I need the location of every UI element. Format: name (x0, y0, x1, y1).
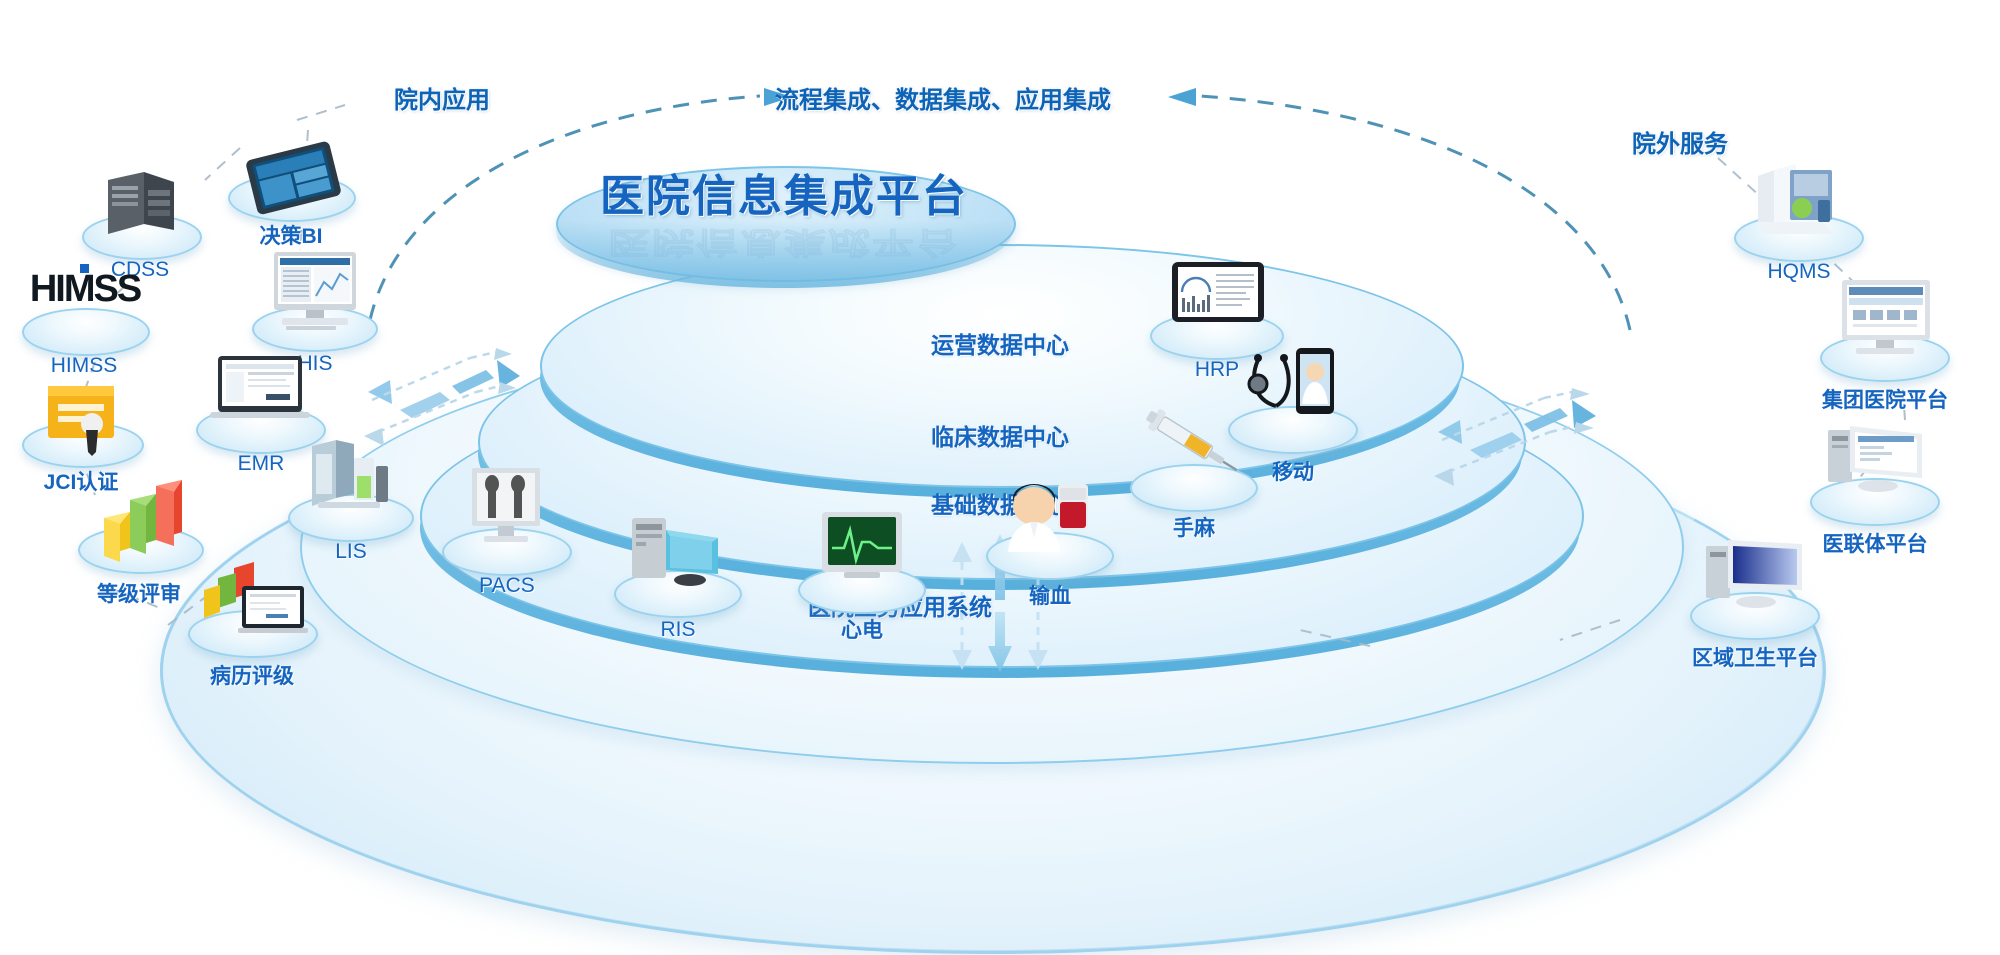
node-label: 集团医院平台 (1794, 384, 1976, 414)
documents-folder-icon (1734, 158, 1864, 262)
node-disc (22, 308, 150, 356)
blood-transfusion-icon (986, 470, 1114, 580)
section-header-external: 院外服务 (1632, 124, 1728, 159)
node-label: 手麻 (1120, 512, 1268, 542)
node-label: 输血 (976, 580, 1124, 610)
node-label: 移动 (1216, 456, 1370, 486)
himss-logo-dot-icon (80, 264, 89, 273)
desktop-portal-icon (1820, 272, 1950, 382)
server-rack-icon (82, 168, 202, 260)
xray-monitor-icon (442, 462, 572, 576)
node-label: PACS (432, 574, 582, 598)
arc-arrow-left-icon (1168, 88, 1196, 106)
lab-analyzer-icon (288, 432, 414, 542)
workstation-icon (614, 508, 742, 618)
laptop-chart-icon (188, 556, 320, 660)
desktop-regional-icon (1690, 530, 1820, 640)
page-title-reflection: 医院信息集成平台 (556, 223, 1012, 267)
tier-label-clinical: 临床数据中心 (478, 418, 1522, 452)
node-label: 心电 (788, 614, 936, 644)
mobile-stethoscope-icon (1228, 344, 1358, 454)
bar-chart-3d-icon (78, 474, 204, 574)
ecg-monitor-icon (798, 504, 926, 614)
desktop-network-icon (1810, 416, 1940, 526)
node-label: LIS (278, 540, 424, 564)
node-label: 病历评级 (174, 660, 330, 690)
node-label: RIS (604, 618, 752, 642)
integration-arc-label: 流程集成、数据集成、应用集成 (775, 80, 1111, 115)
diagram-canvas: 医院信息集成平台 医院信息集成平台 运营数据中心 临床数据中心 基础数据中心 医… (0, 0, 2000, 955)
himss-logo-icon: HIMSS (20, 268, 150, 311)
node-label: HIMSS (12, 354, 156, 378)
desktop-monitor-icon (252, 244, 378, 350)
section-header-internal: 院内应用 (394, 80, 490, 115)
tablet-icon (228, 136, 358, 226)
page-title: 医院信息集成平台 (556, 160, 1012, 224)
certificate-icon (22, 376, 142, 468)
node-label: 区域卫生平台 (1664, 642, 1846, 672)
